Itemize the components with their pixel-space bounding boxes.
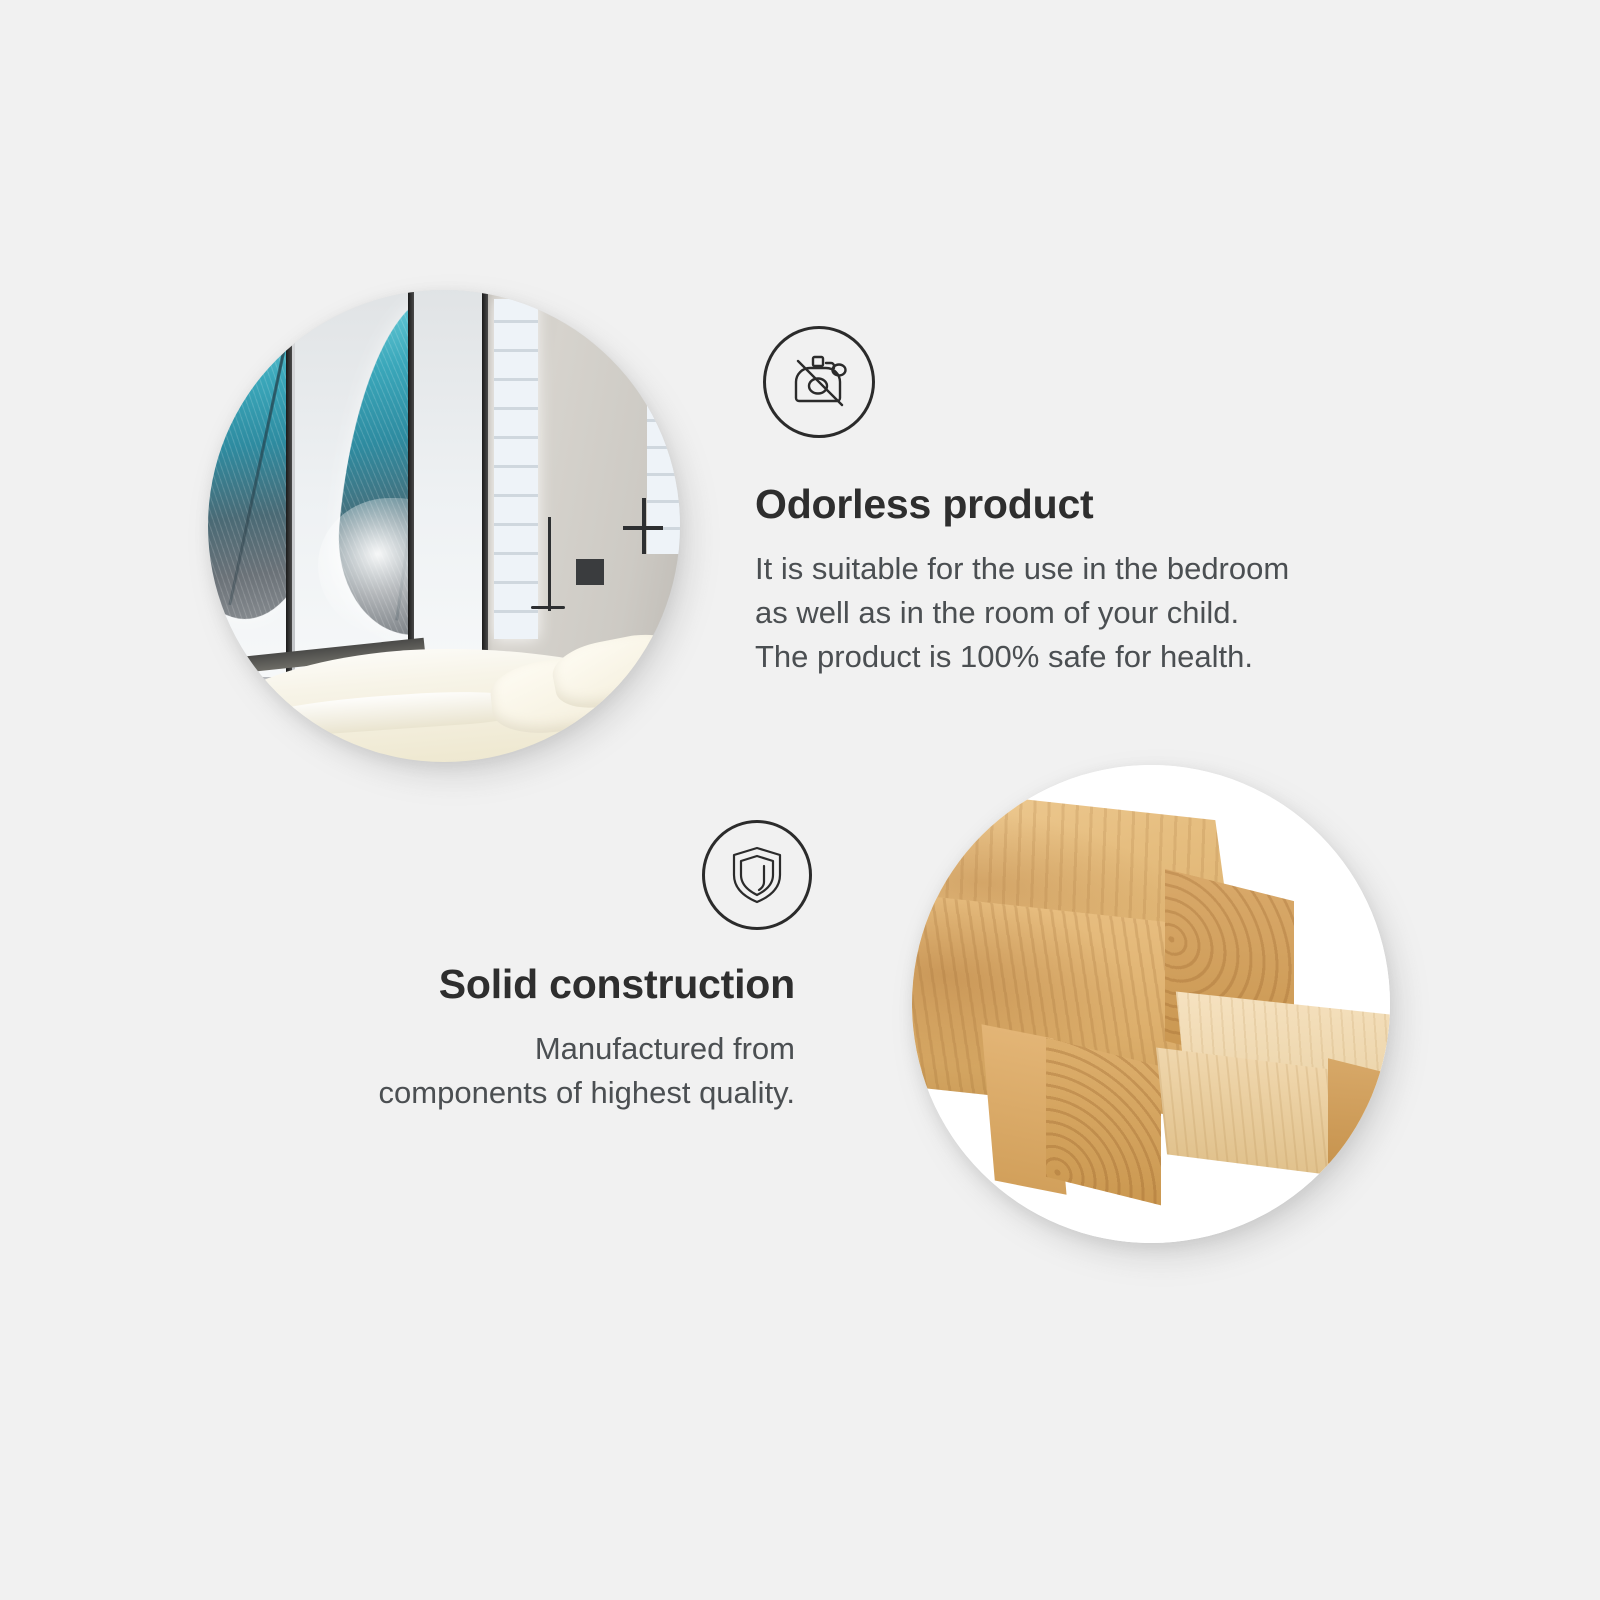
floor-lamp-base [531, 606, 565, 609]
shield-icon [702, 820, 812, 930]
shield-glyph [728, 844, 786, 906]
feature-image-solid [912, 765, 1390, 1243]
canvas-panel-3 [413, 290, 484, 677]
feather-left [208, 312, 288, 628]
floor-lamp-stem [548, 517, 551, 611]
window-left [494, 299, 539, 639]
panel-divider-1 [286, 290, 292, 677]
feature-body-solid: Manufactured from components of highest … [260, 1027, 795, 1115]
feature-image-odorless [208, 290, 680, 762]
no-perfume-glyph [786, 349, 852, 415]
window-right [647, 356, 680, 554]
wood-block-end-grain [1046, 1037, 1161, 1204]
nightstand [576, 559, 604, 585]
wood-plank-end-grain [1328, 1058, 1390, 1179]
feature-text-odorless: Odorless product It is suitable for the … [755, 482, 1455, 679]
feature-text-solid: Solid construction Manufactured from com… [260, 962, 795, 1115]
feather-wisp [318, 498, 409, 638]
wood-blocks-scene [912, 765, 1390, 1243]
product-feature-page: Odorless product It is suitable for the … [0, 0, 1600, 1600]
wall-lamp-cross [623, 526, 663, 530]
bedroom-scene [208, 290, 680, 762]
feather-barbs [208, 312, 288, 628]
panel-divider-2 [408, 290, 414, 677]
canvas-panel-2 [295, 290, 408, 677]
panel-divider-3 [482, 290, 488, 677]
feature-body-odorless: It is suitable for the use in the bedroo… [755, 547, 1455, 679]
canvas-panel-1 [208, 290, 288, 677]
feature-title-odorless: Odorless product [755, 482, 1455, 527]
feature-title-solid: Solid construction [260, 962, 795, 1007]
no-perfume-icon [763, 326, 875, 438]
